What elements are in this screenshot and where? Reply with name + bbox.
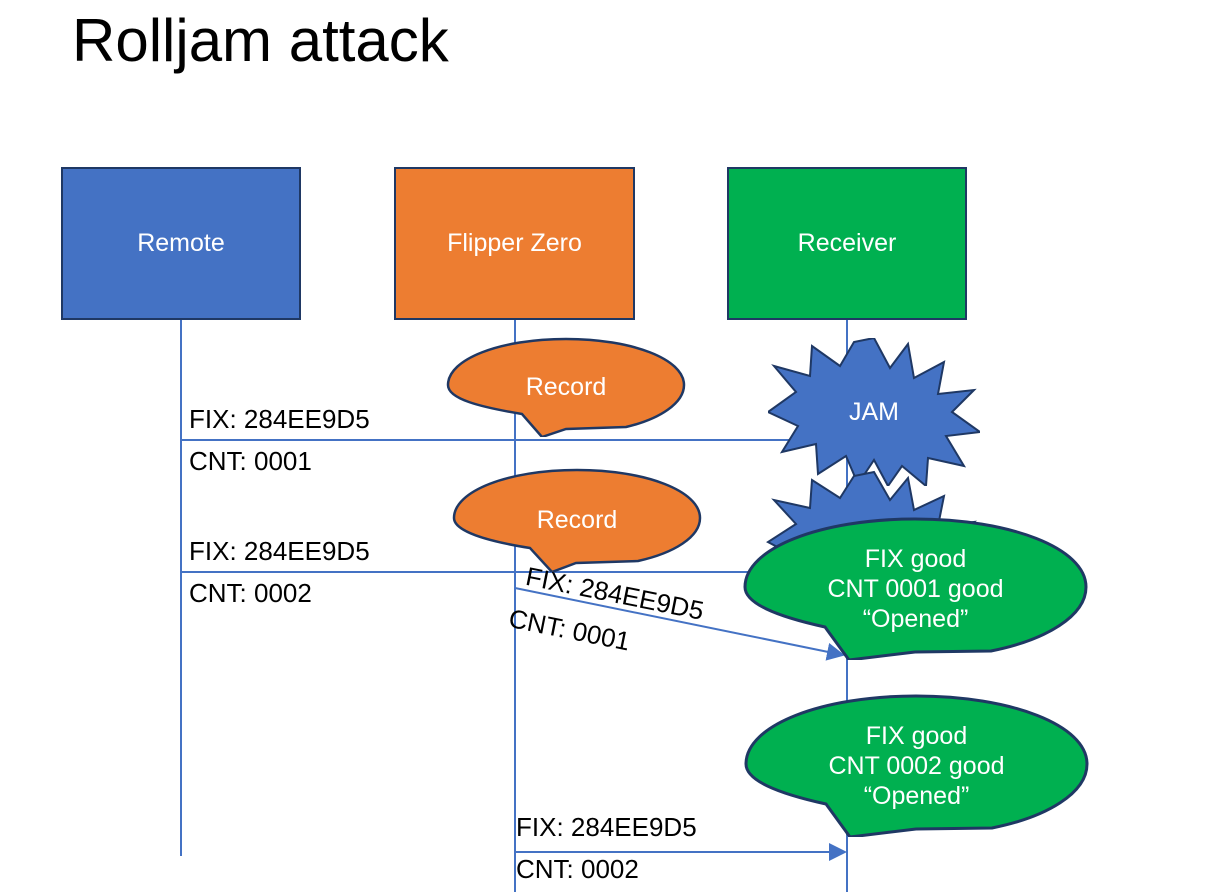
callout-verify-1[interactable]: FIX good CNT 0001 good “Opened”	[743, 517, 1088, 660]
callout-record-1[interactable]: Record	[446, 337, 686, 437]
message-3-line2: CNT: 0001	[506, 604, 632, 656]
actor-box-flipper[interactable]: Flipper Zero	[394, 167, 635, 320]
jam-label: JAM	[849, 398, 899, 427]
callout-verify-2-line2: CNT 0002 good	[828, 751, 1004, 781]
message-4-line1: FIX: 284EE9D5	[516, 813, 697, 842]
message-2-line2: CNT: 0002	[189, 579, 312, 608]
message-2-line1: FIX: 284EE9D5	[189, 537, 370, 566]
callout-verify-2-line1: FIX good	[866, 721, 967, 751]
actor-box-receiver[interactable]: Receiver	[727, 167, 967, 320]
callout-record-1-label: Record	[526, 372, 607, 402]
jam-burst-shape[interactable]: JAM	[768, 338, 980, 486]
callout-verify-1-line1: FIX good	[865, 544, 966, 574]
message-4-line2: CNT: 0002	[516, 855, 639, 884]
message-1-line1: FIX: 284EE9D5	[189, 405, 370, 434]
callout-verify-2-line3: “Opened”	[864, 781, 970, 811]
slide-canvas: Rolljam attack Remote Flipper Zero Recei…	[0, 0, 1231, 892]
actor-box-remote[interactable]: Remote	[61, 167, 301, 320]
actor-label-remote: Remote	[137, 229, 225, 258]
callout-record-2[interactable]: Record	[452, 468, 702, 572]
callout-verify-2[interactable]: FIX good CNT 0002 good “Opened”	[744, 694, 1089, 837]
callout-record-2-label: Record	[537, 505, 618, 535]
page-title: Rolljam attack	[72, 6, 449, 75]
callout-verify-1-line3: “Opened”	[863, 604, 969, 634]
actor-label-flipper: Flipper Zero	[447, 229, 582, 258]
actor-label-receiver: Receiver	[798, 229, 897, 258]
callout-verify-1-line2: CNT 0001 good	[827, 574, 1003, 604]
message-1-line2: CNT: 0001	[189, 447, 312, 476]
